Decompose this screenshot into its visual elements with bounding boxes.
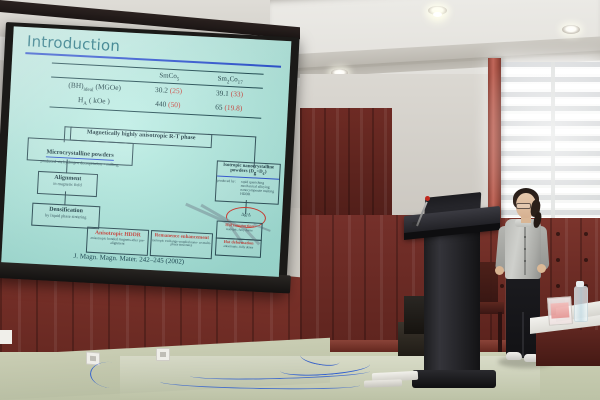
window-blind-slat [497, 84, 600, 89]
shirt-button [524, 236, 526, 238]
microphone-tip [425, 196, 430, 201]
equipment-box [404, 296, 426, 334]
row-label-main: (BH) [68, 80, 84, 90]
cell-value: 39.1 [216, 88, 229, 98]
chair-leg [498, 312, 502, 352]
panel-seam [324, 108, 326, 228]
downlight-icon [433, 12, 442, 17]
name-card-holder [547, 296, 573, 326]
cell-value: 440 [155, 99, 167, 109]
flow-box-remanence-enhancement: Remanence enhancement isotropic exchange… [150, 230, 213, 259]
presenter-leg-gap [522, 312, 524, 358]
table-corner-cell [51, 71, 139, 76]
window-blind-slat [497, 188, 600, 193]
flow-box-hot-deformation: Hot deformation anisotropic, fully dense [215, 237, 262, 257]
window-blind-slat [497, 92, 600, 97]
presenter-hand-left [495, 266, 504, 275]
ellipse-label: Δg/Δ [241, 212, 251, 217]
window-mullion [551, 62, 555, 224]
glasses-icon [516, 203, 531, 209]
window-blind-slat [497, 210, 600, 215]
panel-seam [384, 108, 387, 228]
window-blind-slat [497, 158, 600, 163]
panel-peg [556, 232, 560, 236]
panel-peg [556, 258, 560, 262]
table-cell: 65 (19.8) [198, 102, 260, 114]
bottle-cap [576, 281, 584, 287]
shirt-button [524, 260, 526, 262]
row-label-tail: ( kOe ) [87, 96, 110, 106]
panel-seam [372, 108, 374, 228]
flow-box-sub: produced via hydrogen decrepitation + mi… [28, 158, 132, 168]
flow-connector [64, 191, 66, 205]
panel-seam [595, 218, 598, 348]
window-blind-slat [497, 77, 600, 82]
flow-box-sub: isotropic exchange-coupled nano- or mult… [151, 239, 211, 250]
table-cell: 440 (50) [138, 98, 198, 110]
row-label-tail: (MGOe) [93, 82, 121, 92]
window-blind-slat [497, 69, 600, 74]
power-strip[interactable] [364, 379, 402, 387]
flow-connector [66, 159, 68, 173]
flow-box-microcrystalline: Microcrystalline powders produced via hy… [27, 137, 134, 166]
cell-paren: (25) [170, 86, 183, 96]
window-blind-slat [497, 129, 600, 134]
panel-seam [360, 108, 363, 228]
water-bottle [574, 286, 588, 322]
wall-panel-far [300, 108, 392, 228]
lecture-room-scene: Introduction SmCo5 Sm2Co17 (BH)ideal (MG… [0, 0, 600, 400]
flow-box-isotropic-nanocrystalline: Isotropic nanocrystalline powders (Dg<Dc… [215, 160, 281, 204]
flow-box-alignment: Alignment in magnetic field [37, 171, 98, 197]
window-blind-slat [497, 99, 600, 104]
cell-paren: (33) [231, 89, 244, 99]
window-blind-slat [497, 136, 600, 141]
presenter-hand-right [537, 264, 546, 273]
presenter-shirt-placket [524, 225, 526, 275]
flow-connector [208, 134, 256, 138]
panel-seam [312, 108, 315, 228]
cell-value: 30.2 [155, 85, 168, 95]
presenter-shoe [506, 352, 522, 360]
projection-screen: Introduction SmCo5 Sm2Co17 (BH)ideal (MG… [0, 22, 300, 293]
name-card [550, 302, 569, 318]
slide-content: Introduction SmCo5 Sm2Co17 (BH)ideal (MG… [1, 26, 291, 276]
window-blind-slat [497, 143, 600, 148]
panel-peg [584, 258, 588, 262]
panel-seam [348, 108, 350, 228]
cell-value: 65 [215, 103, 223, 112]
window-blind-slat [497, 180, 600, 185]
cell-paren: (50) [168, 100, 181, 110]
window-blind-slat [497, 106, 600, 111]
window-blind-slat [497, 121, 600, 126]
podium-body [424, 228, 480, 378]
window-blind-slat [497, 151, 600, 156]
table-cell: 30.2 (25) [138, 84, 198, 96]
cell-paren: (19.8) [224, 103, 242, 113]
panel-peg [584, 232, 588, 236]
shirt-button [524, 248, 526, 250]
panel-peg [556, 284, 560, 288]
panel-peg [500, 284, 504, 288]
panel-seam [300, 108, 302, 228]
powders-label: powders (D [230, 169, 254, 175]
curtain [488, 58, 501, 228]
wall-box [0, 330, 12, 344]
flow-box-densification: Densification by liquid phase sintering [31, 203, 100, 230]
window-blind-slat [497, 166, 600, 171]
wall-outlet[interactable] [156, 348, 170, 361]
podium-base [412, 370, 496, 388]
slide-table: SmCo5 Sm2Co17 (BH)ideal (MGOe) 30.2 (25)… [49, 63, 263, 120]
panel-seam [336, 108, 339, 228]
window-blind-slat [497, 173, 600, 178]
flow-box-sub-label: produced by: [217, 179, 237, 184]
flow-box-anisotropic-hddr: Anisotropic HDDR anisotropic bonded magn… [86, 227, 149, 256]
downlight-icon [562, 25, 580, 34]
side-table [536, 330, 600, 366]
flow-connector [64, 126, 72, 127]
row-label-sub: ideal [83, 87, 93, 94]
window-blind-slat [497, 114, 600, 119]
table-cell: 39.1 (33) [198, 87, 260, 99]
flow-box-sub-list: rapid quenchingmechanical alloyingnanoco… [240, 180, 279, 198]
window-blind-slat [497, 62, 600, 67]
slide-title: Introduction [27, 32, 121, 55]
